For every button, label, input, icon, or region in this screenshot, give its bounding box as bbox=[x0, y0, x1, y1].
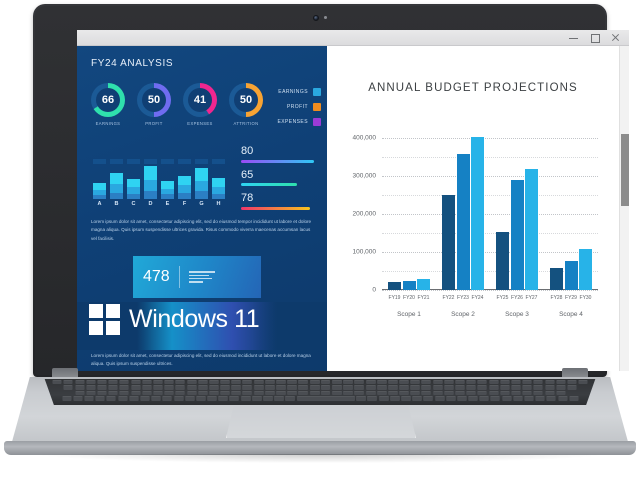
x-axis-tick-label: FY27 bbox=[525, 295, 538, 301]
slide-bar-column bbox=[93, 154, 106, 199]
slide-bar-label: H bbox=[212, 201, 225, 207]
donut-ring: 50 bbox=[229, 83, 263, 117]
keyboard-key[interactable] bbox=[84, 396, 93, 400]
keyboard-key[interactable] bbox=[287, 391, 296, 395]
keyboard-key[interactable] bbox=[310, 380, 320, 384]
keyboard-key[interactable] bbox=[433, 391, 442, 395]
slide-bar-seg bbox=[212, 194, 225, 199]
keyboard-key[interactable] bbox=[198, 380, 207, 384]
bar-fy20[interactable] bbox=[403, 281, 416, 290]
keyboard-key[interactable] bbox=[243, 380, 252, 384]
keyboard-key[interactable] bbox=[524, 396, 533, 400]
donut-value: 41 bbox=[194, 94, 206, 106]
keyboard-key[interactable] bbox=[252, 396, 261, 400]
legend-swatch bbox=[313, 88, 321, 96]
keyboard-key[interactable] bbox=[410, 380, 419, 384]
keyboard-key[interactable] bbox=[399, 391, 408, 395]
keyboard-key[interactable] bbox=[399, 380, 408, 384]
bar-fy22[interactable] bbox=[442, 195, 455, 290]
keyboard-key[interactable] bbox=[287, 380, 296, 384]
slide-bar-label: D bbox=[144, 201, 157, 207]
keyboard-key[interactable] bbox=[120, 391, 129, 395]
keyboard-key[interactable] bbox=[556, 385, 565, 389]
x-axis-tick-label: FY21 bbox=[417, 295, 430, 301]
keyboard-key[interactable] bbox=[142, 380, 151, 384]
keyboard-key[interactable] bbox=[579, 380, 588, 384]
keyboard-key[interactable] bbox=[230, 396, 239, 400]
keyboard-key[interactable] bbox=[332, 385, 342, 389]
keyboard-key[interactable] bbox=[356, 396, 366, 400]
keyboard-key[interactable] bbox=[209, 385, 218, 389]
keyboard-key[interactable] bbox=[444, 385, 453, 389]
keyboard-key[interactable] bbox=[444, 380, 453, 384]
slide-bar-chart bbox=[93, 154, 225, 199]
keyboard-key[interactable] bbox=[422, 391, 431, 395]
keyboard-key[interactable] bbox=[558, 396, 567, 400]
keyboard-key[interactable] bbox=[164, 391, 173, 395]
keyboard-key[interactable] bbox=[220, 380, 229, 384]
keyboard-key[interactable] bbox=[97, 391, 106, 395]
keyboard-key[interactable] bbox=[298, 385, 308, 389]
keyboard[interactable] bbox=[32, 379, 608, 405]
keyboard-key[interactable] bbox=[457, 396, 466, 400]
donut-value: 50 bbox=[240, 94, 252, 106]
webcam-led-icon bbox=[324, 16, 327, 19]
keyboard-key[interactable] bbox=[446, 396, 455, 400]
keyboard-key[interactable] bbox=[366, 391, 375, 395]
slide-bar-cap bbox=[110, 159, 123, 164]
keyboard-key[interactable] bbox=[109, 391, 118, 395]
keyboard-key[interactable] bbox=[97, 380, 106, 384]
slide-bar-cap bbox=[127, 159, 140, 164]
keyboard-key[interactable] bbox=[118, 396, 127, 400]
keyboard-key[interactable] bbox=[388, 385, 397, 389]
donut-earnings: 66EARNINGS bbox=[89, 83, 127, 126]
keyboard-key[interactable] bbox=[410, 391, 419, 395]
keyboard-key[interactable] bbox=[276, 385, 285, 389]
slide-bar-label: G bbox=[195, 201, 208, 207]
keyboard-key[interactable] bbox=[220, 385, 229, 389]
slide-bar-cap bbox=[195, 159, 208, 164]
maximize-button[interactable] bbox=[590, 33, 599, 42]
legend-item-earnings: EARNINGS bbox=[277, 88, 321, 96]
slide-bar-seg bbox=[144, 180, 157, 191]
keyboard-key[interactable] bbox=[218, 396, 227, 400]
keyboard-key[interactable] bbox=[129, 396, 138, 400]
keyboard-key[interactable] bbox=[265, 385, 274, 389]
slide-bar-column bbox=[127, 154, 140, 199]
keyboard-key[interactable] bbox=[298, 391, 308, 395]
keyboard-key[interactable] bbox=[455, 391, 464, 395]
keyboard-key[interactable] bbox=[276, 391, 285, 395]
keyboard-key[interactable] bbox=[298, 380, 308, 384]
slide-bar-seg bbox=[212, 178, 225, 187]
slide-bar-label: B bbox=[110, 201, 123, 207]
keyboard-key[interactable] bbox=[153, 385, 162, 389]
keyboard-key[interactable] bbox=[243, 385, 252, 389]
keyboard-key[interactable] bbox=[332, 391, 342, 395]
keyboard-key[interactable] bbox=[390, 396, 399, 400]
keyboard-key[interactable] bbox=[343, 391, 353, 395]
keyboard-key[interactable] bbox=[423, 396, 432, 400]
keyboard-key[interactable] bbox=[412, 396, 421, 400]
donut-label: EXPENSES bbox=[181, 121, 219, 126]
keyboard-key[interactable] bbox=[354, 391, 363, 395]
slide-bar-seg bbox=[195, 168, 208, 181]
keyboard-key[interactable] bbox=[198, 391, 207, 395]
slide-bar-seg bbox=[110, 193, 123, 199]
keyboard-key[interactable] bbox=[176, 385, 185, 389]
keyboard-key[interactable] bbox=[231, 391, 240, 395]
keyboard-key[interactable] bbox=[468, 396, 477, 400]
keyboard-key[interactable] bbox=[379, 396, 388, 400]
slide-bar-seg bbox=[178, 185, 191, 193]
keyboard-key[interactable] bbox=[489, 380, 498, 384]
slide-bar-chart-labels: ABCDEFGH bbox=[93, 201, 225, 207]
keyboard-key[interactable] bbox=[310, 391, 320, 395]
keyboard-key[interactable] bbox=[153, 391, 162, 395]
keyboard-key[interactable] bbox=[109, 380, 118, 384]
chart-title: ANNUAL BUDGET PROJECTIONS bbox=[327, 82, 619, 94]
legend-swatch bbox=[313, 103, 321, 111]
slide-bar-cap bbox=[212, 159, 225, 164]
x-axis-tick-label: FY25 bbox=[496, 295, 509, 301]
slide-bar-label: E bbox=[161, 201, 174, 207]
keyboard-key[interactable] bbox=[366, 380, 375, 384]
keyboard-key[interactable] bbox=[377, 380, 386, 384]
y-axis-tick-label: 100,000 bbox=[353, 248, 377, 255]
keyboard-key[interactable] bbox=[73, 396, 82, 400]
keyboard-key[interactable] bbox=[556, 380, 565, 384]
bar-fy28[interactable] bbox=[550, 268, 563, 290]
x-axis-tick-label: FY26 bbox=[511, 295, 524, 301]
keyboard-key[interactable] bbox=[120, 385, 129, 389]
keyboard-key[interactable] bbox=[343, 385, 353, 389]
keyboard-key[interactable] bbox=[377, 391, 386, 395]
keyboard-key[interactable] bbox=[455, 385, 464, 389]
document-page: ANNUAL BUDGET PROJECTIONS 0100,000200,00… bbox=[327, 46, 619, 371]
keyboard-key[interactable] bbox=[86, 391, 95, 395]
donut-chart-group: 66EARNINGS50PROFIT41EXPENSES50ATTRITION bbox=[89, 83, 265, 126]
keyboard-key[interactable] bbox=[433, 380, 442, 384]
donut-value: 50 bbox=[148, 94, 160, 106]
slide-bar-seg bbox=[178, 193, 191, 199]
keyboard-key[interactable] bbox=[265, 391, 274, 395]
slide-bar-seg bbox=[144, 191, 157, 199]
keyboard-key[interactable] bbox=[547, 396, 556, 400]
slide-bar-seg bbox=[110, 184, 123, 192]
keyboard-key[interactable] bbox=[466, 380, 475, 384]
kpi-item: 80 bbox=[241, 146, 319, 163]
bar-group-scope-1 bbox=[388, 130, 430, 290]
keyboard-key[interactable] bbox=[287, 385, 296, 389]
keyboard-key[interactable] bbox=[534, 391, 543, 395]
laptop-device: FY24 ANALYSIS 66EARNINGS50PROFIT41EXPENS… bbox=[0, 0, 640, 480]
close-button[interactable] bbox=[611, 33, 620, 42]
kpi-bar bbox=[241, 160, 314, 163]
bar-fy25[interactable] bbox=[496, 232, 509, 290]
drop-shadow bbox=[40, 454, 600, 463]
keyboard-key[interactable] bbox=[187, 391, 196, 395]
os-brand-block: Windows 11 bbox=[89, 304, 259, 335]
keyboard-key[interactable] bbox=[366, 385, 375, 389]
legend-item-expenses: EXPENSES bbox=[277, 118, 321, 126]
bar-group-scope-2 bbox=[442, 130, 484, 290]
keyboard-key[interactable] bbox=[569, 396, 578, 400]
keyboard-key[interactable] bbox=[401, 396, 410, 400]
keyboard-key[interactable] bbox=[86, 380, 95, 384]
x-axis-tick-label: FY29 bbox=[565, 295, 578, 301]
window-controls bbox=[569, 33, 629, 42]
keyboard-key[interactable] bbox=[75, 391, 84, 395]
laptop-screen: FY24 ANALYSIS 66EARNINGS50PROFIT41EXPENS… bbox=[77, 30, 629, 371]
x-axis-tick-label: FY20 bbox=[403, 295, 416, 301]
keyboard-key[interactable] bbox=[367, 396, 377, 400]
keyboard-key[interactable] bbox=[567, 385, 576, 389]
keyboard-key[interactable] bbox=[131, 380, 140, 384]
keyboard-key[interactable] bbox=[198, 385, 207, 389]
keyboard-key[interactable] bbox=[263, 396, 272, 400]
keyboard-key[interactable] bbox=[209, 380, 218, 384]
bar-chart-plot-area: 0100,000200,000300,000400,000FY19FY20FY2… bbox=[382, 130, 598, 290]
keyboard-key[interactable] bbox=[545, 391, 554, 395]
keyboard-key[interactable] bbox=[523, 391, 532, 395]
keyboard-key[interactable] bbox=[241, 396, 250, 400]
keyboard-key[interactable] bbox=[207, 396, 216, 400]
bar-group-scope-3 bbox=[496, 130, 538, 290]
keyboard-row bbox=[32, 396, 608, 400]
keyboard-key[interactable] bbox=[196, 396, 205, 400]
slide-footer-paragraph: Lorem ipsum dolor sit amet, consectetur … bbox=[91, 352, 313, 369]
keyboard-key[interactable] bbox=[220, 391, 229, 395]
keyboard-key[interactable] bbox=[274, 396, 284, 400]
donut-attrition: 50ATTRITION bbox=[227, 83, 265, 126]
keyboard-key[interactable] bbox=[478, 391, 487, 395]
keyboard-key[interactable] bbox=[511, 380, 520, 384]
keyboard-key[interactable] bbox=[265, 380, 274, 384]
keyboard-key[interactable] bbox=[187, 380, 196, 384]
keyboard-key[interactable] bbox=[511, 385, 520, 389]
vertical-scrollbar[interactable] bbox=[619, 46, 629, 371]
slide-bar-label: F bbox=[178, 201, 191, 207]
keyboard-key[interactable] bbox=[64, 385, 73, 389]
keyboard-key[interactable] bbox=[164, 380, 173, 384]
keyboard-key[interactable] bbox=[556, 391, 565, 395]
keyboard-key[interactable] bbox=[285, 396, 295, 400]
keyboard-key[interactable] bbox=[354, 380, 363, 384]
keyboard-key[interactable] bbox=[53, 380, 62, 384]
keyboard-key[interactable] bbox=[64, 380, 73, 384]
bar-fy23[interactable] bbox=[457, 154, 470, 290]
keyboard-key[interactable] bbox=[109, 385, 118, 389]
keyboard-key[interactable] bbox=[478, 380, 487, 384]
keyboard-key[interactable] bbox=[332, 380, 342, 384]
keyboard-key[interactable] bbox=[254, 385, 263, 389]
keyboard-key[interactable] bbox=[455, 380, 464, 384]
keyboard-key[interactable] bbox=[62, 396, 71, 400]
keyboard-key[interactable] bbox=[502, 396, 511, 400]
document-pane: ANNUAL BUDGET PROJECTIONS 0100,000200,00… bbox=[327, 46, 629, 371]
keyboard-key[interactable] bbox=[399, 385, 408, 389]
keyboard-key[interactable] bbox=[243, 391, 252, 395]
slide-bar-label: A bbox=[93, 201, 106, 207]
slide-bar-column bbox=[110, 154, 123, 199]
infographic-slide: FY24 ANALYSIS 66EARNINGS50PROFIT41EXPENS… bbox=[77, 46, 327, 371]
bar-fy21[interactable] bbox=[417, 279, 430, 290]
minimize-button[interactable] bbox=[569, 33, 578, 42]
scrollbar-thumb[interactable] bbox=[621, 134, 629, 206]
keyboard-key[interactable] bbox=[163, 396, 172, 400]
window-titlebar[interactable] bbox=[77, 30, 629, 46]
slide-bar-seg bbox=[195, 191, 208, 199]
keyboard-key[interactable] bbox=[176, 391, 185, 395]
slide-bar-seg bbox=[178, 176, 191, 186]
keyboard-key[interactable] bbox=[466, 391, 475, 395]
keyboard-key[interactable] bbox=[231, 385, 240, 389]
keyboard-key[interactable] bbox=[534, 380, 543, 384]
laptop-lid: FY24 ANALYSIS 66EARNINGS50PROFIT41EXPENS… bbox=[33, 4, 607, 377]
keyboard-key[interactable] bbox=[435, 396, 444, 400]
legend-label: EXPENSES bbox=[277, 119, 308, 125]
bar-fy26[interactable] bbox=[511, 180, 524, 290]
slide-bar-seg bbox=[127, 194, 140, 199]
keyboard-key[interactable] bbox=[321, 385, 331, 389]
stat-card-value: 478 bbox=[143, 268, 170, 286]
slide-title: FY24 ANALYSIS bbox=[91, 58, 173, 69]
touchpad[interactable] bbox=[226, 406, 416, 438]
keyboard-key[interactable] bbox=[310, 385, 320, 389]
windows-logo-icon bbox=[89, 304, 120, 335]
bar-fy24[interactable] bbox=[471, 137, 484, 290]
keyboard-key[interactable] bbox=[231, 380, 240, 384]
keyboard-key[interactable] bbox=[142, 385, 151, 389]
keyboard-row bbox=[32, 385, 608, 389]
kpi-value: 78 bbox=[241, 193, 319, 205]
keyboard-key[interactable] bbox=[131, 385, 140, 389]
slide-bar-cap bbox=[93, 159, 106, 164]
keyboard-key[interactable] bbox=[131, 391, 140, 395]
os-brand-label: Windows 11 bbox=[129, 305, 259, 334]
keyboard-key[interactable] bbox=[187, 385, 196, 389]
keyboard-key[interactable] bbox=[120, 380, 129, 384]
donut-expenses: 41EXPENSES bbox=[181, 83, 219, 126]
keyboard-key[interactable] bbox=[500, 385, 509, 389]
keyboard-key[interactable] bbox=[377, 385, 386, 389]
keyboard-key[interactable] bbox=[522, 380, 531, 384]
kpi-bar bbox=[241, 207, 310, 210]
keyboard-key[interactable] bbox=[164, 385, 173, 389]
slide-bar-column bbox=[161, 154, 174, 199]
keyboard-key[interactable] bbox=[343, 380, 353, 384]
donut-ring: 50 bbox=[137, 83, 171, 117]
keyboard-key[interactable] bbox=[500, 380, 509, 384]
keyboard-key[interactable] bbox=[523, 385, 532, 389]
legend-label: EARNINGS bbox=[278, 89, 308, 95]
keyboard-key[interactable] bbox=[545, 380, 554, 384]
keyboard-key[interactable] bbox=[422, 385, 431, 389]
bar-fy19[interactable] bbox=[388, 282, 401, 290]
bar-group-label: Scope 3 bbox=[496, 311, 538, 318]
screenshot-root: FY24 ANALYSIS 66EARNINGS50PROFIT41EXPENS… bbox=[0, 0, 640, 480]
keyboard-key[interactable] bbox=[97, 385, 106, 389]
y-axis-tick-label: 0 bbox=[372, 287, 376, 294]
keyboard-key[interactable] bbox=[297, 396, 355, 400]
y-axis-tick-label: 300,000 bbox=[353, 172, 377, 179]
bar-fy27[interactable] bbox=[525, 169, 538, 290]
keyboard-key[interactable] bbox=[107, 396, 116, 400]
keyboard-key[interactable] bbox=[254, 391, 263, 395]
keyboard-key[interactable] bbox=[545, 385, 554, 389]
keyboard-key[interactable] bbox=[321, 391, 331, 395]
keyboard-key[interactable] bbox=[489, 391, 498, 395]
keyboard-key[interactable] bbox=[511, 391, 520, 395]
keyboard-key[interactable] bbox=[388, 391, 397, 395]
bar-group-label: Scope 2 bbox=[442, 311, 484, 318]
keyboard-key[interactable] bbox=[153, 380, 162, 384]
keyboard-key[interactable] bbox=[75, 380, 84, 384]
legend-swatch bbox=[313, 118, 321, 126]
bar-group-label: Scope 1 bbox=[388, 311, 430, 318]
keyboard-key[interactable] bbox=[466, 385, 475, 389]
keyboard-key[interactable] bbox=[567, 380, 576, 384]
keyboard-key[interactable] bbox=[536, 396, 545, 400]
slide-bar-column bbox=[178, 154, 191, 199]
keyboard-key[interactable] bbox=[86, 385, 95, 389]
keyboard-key[interactable] bbox=[321, 380, 331, 384]
x-axis-tick-label: FY22 bbox=[442, 295, 455, 301]
keyboard-key[interactable] bbox=[140, 396, 149, 400]
bar-fy29[interactable] bbox=[565, 261, 578, 290]
keyboard-key[interactable] bbox=[444, 391, 453, 395]
slide-paragraph: Lorem ipsum dolor sit amet, consectetur … bbox=[91, 218, 313, 243]
keyboard-key[interactable] bbox=[174, 396, 183, 400]
slide-bar-seg bbox=[127, 179, 140, 187]
webcam-module bbox=[297, 13, 343, 22]
keyboard-key[interactable] bbox=[151, 396, 160, 400]
x-axis-tick-label: FY23 bbox=[457, 295, 470, 301]
keyboard-key[interactable] bbox=[96, 396, 105, 400]
keyboard-key[interactable] bbox=[513, 396, 522, 400]
keyboard-key[interactable] bbox=[534, 385, 543, 389]
keyboard-key[interactable] bbox=[354, 385, 363, 389]
stat-card: 478 bbox=[133, 256, 261, 298]
keyboard-key[interactable] bbox=[176, 380, 185, 384]
keyboard-key[interactable] bbox=[478, 385, 487, 389]
keyboard-key[interactable] bbox=[491, 396, 500, 400]
keyboard-key[interactable] bbox=[422, 380, 431, 384]
keyboard-key[interactable] bbox=[276, 380, 285, 384]
webcam-icon bbox=[313, 15, 319, 21]
keyboard-key[interactable] bbox=[142, 391, 151, 395]
slide-bar-column bbox=[144, 154, 157, 199]
keyboard-key[interactable] bbox=[75, 385, 84, 389]
bar-fy30[interactable] bbox=[579, 249, 592, 290]
x-axis-tick-label: FY28 bbox=[550, 295, 563, 301]
keyboard-key[interactable] bbox=[388, 380, 397, 384]
keyboard-key[interactable] bbox=[185, 396, 194, 400]
slide-bar-seg bbox=[93, 183, 106, 190]
keyboard-key[interactable] bbox=[479, 396, 488, 400]
bar-group-label: Scope 4 bbox=[550, 311, 592, 318]
keyboard-key[interactable] bbox=[489, 385, 498, 389]
keyboard-key[interactable] bbox=[500, 391, 509, 395]
keyboard-key[interactable] bbox=[254, 380, 263, 384]
donut-label: PROFIT bbox=[135, 121, 173, 126]
keyboard-key[interactable] bbox=[209, 391, 218, 395]
keyboard-key[interactable] bbox=[410, 385, 419, 389]
keyboard-key[interactable] bbox=[433, 385, 442, 389]
kpi-item: 65 bbox=[241, 170, 319, 187]
